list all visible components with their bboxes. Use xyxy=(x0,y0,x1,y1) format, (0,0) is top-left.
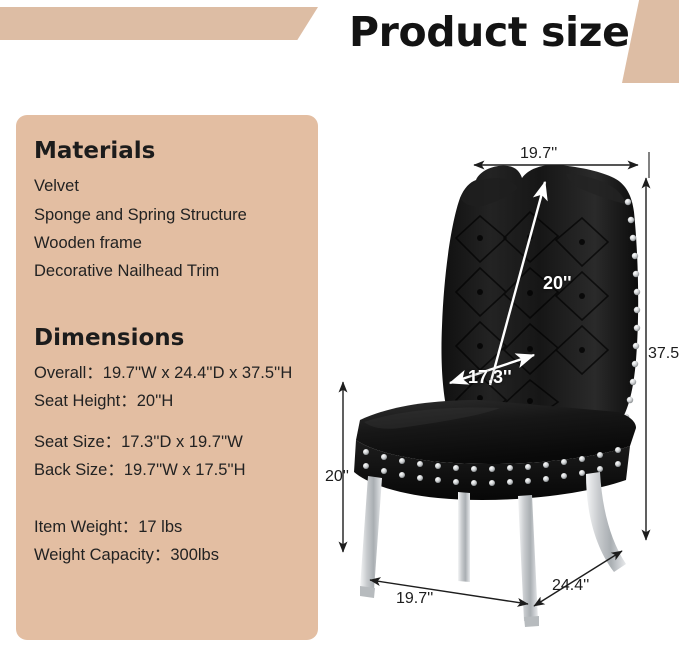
materials-heading: Materials xyxy=(34,139,318,164)
leg-front-left xyxy=(360,476,382,590)
dimension-row: Seat Size：17.3''D x 19.7''W xyxy=(34,428,318,456)
materials-item: Velvet xyxy=(34,172,318,200)
label-back-width: 19.7'' xyxy=(520,145,557,163)
leg-back-middle xyxy=(458,492,470,582)
leg-front-right xyxy=(518,495,538,621)
spacer xyxy=(34,485,318,513)
dimension-row: Back Size：19.7''W x 17.5''H xyxy=(34,456,318,484)
dimension-row: Item Weight：17 lbs xyxy=(34,513,318,541)
label-back-height: 20'' xyxy=(543,273,572,294)
label-seat-depth: 17.3'' xyxy=(468,367,512,388)
label-bottom-width: 19.7'' xyxy=(396,590,433,608)
info-panel: Materials Velvet Sponge and Spring Struc… xyxy=(16,115,318,640)
label-overall-height: 37.5'' xyxy=(648,345,679,363)
header-band-left xyxy=(0,7,318,40)
label-seat-height: 20'' xyxy=(325,468,349,486)
leg-front-right-foot xyxy=(524,616,539,627)
page-title: Product size xyxy=(349,8,629,56)
dimension-row: Seat Height：20''H xyxy=(34,387,318,415)
materials-item: Wooden frame xyxy=(34,229,318,257)
materials-item: Sponge and Spring Structure xyxy=(34,201,318,229)
label-bottom-depth: 24.4'' xyxy=(552,577,589,595)
materials-item: Decorative Nailhead Trim xyxy=(34,257,318,285)
dimension-row: Overall：19.7''W x 24.4''D x 37.5''H xyxy=(34,359,318,387)
leg-back-right xyxy=(586,472,626,572)
header-band-right xyxy=(622,0,679,83)
spacer xyxy=(34,416,318,428)
dimension-row: Weight Capacity：300lbs xyxy=(34,541,318,569)
dimensions-heading: Dimensions xyxy=(34,326,318,351)
leg-front-left-foot xyxy=(360,586,375,598)
product-size-infographic: Product size Materials Velvet Sponge and… xyxy=(0,0,679,645)
